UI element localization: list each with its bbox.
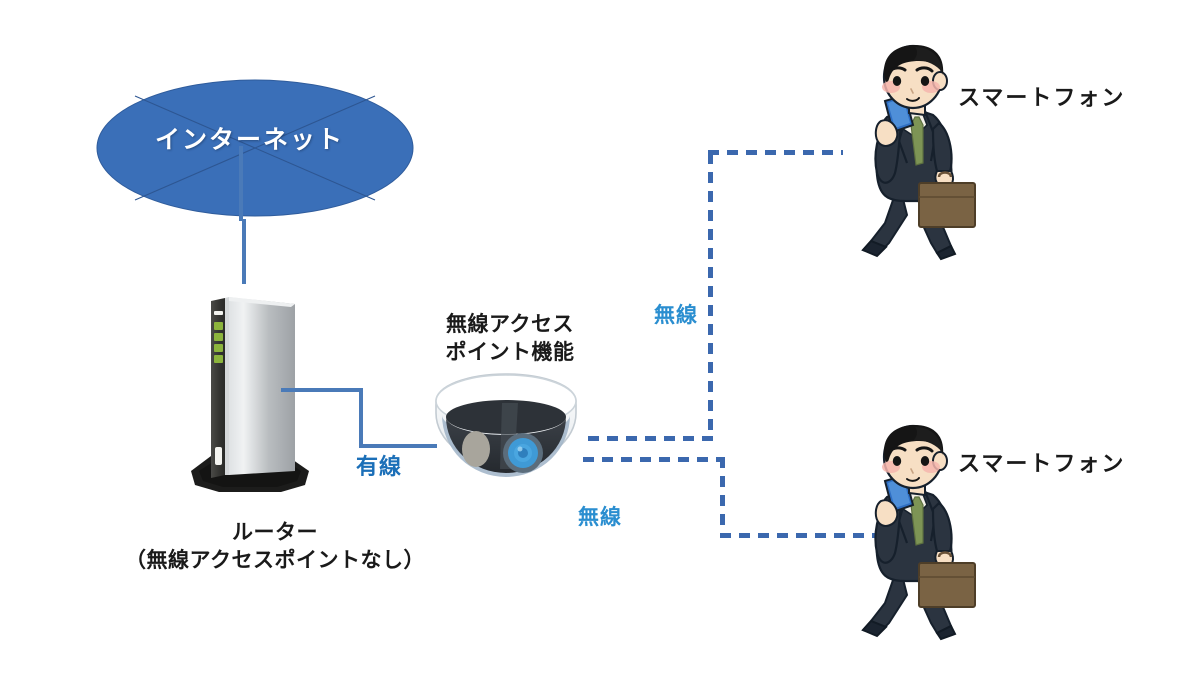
connector-camera-phonetop-h2: [708, 150, 843, 155]
smartphone-top-label: スマートフォン: [958, 84, 1125, 112]
connector-router-camera-v: [359, 388, 363, 448]
wireless-label-top: 無線: [654, 303, 698, 330]
smartphone-top-node: [855, 45, 985, 260]
dome-camera-icon: [428, 373, 584, 505]
connector-router-camera-h1: [281, 388, 363, 392]
wireless-label-bottom: 無線: [578, 505, 622, 532]
diagram-canvas: インターネット: [0, 0, 1200, 675]
connector-router-camera-h2: [359, 444, 437, 448]
connector-internet-router-lower: [242, 219, 246, 284]
connector-camera-phonebottom-h1: [583, 457, 725, 462]
businessman-with-phone-icon: [855, 45, 985, 260]
router-node: [185, 295, 315, 495]
camera-label-line1: 無線アクセス: [430, 312, 590, 339]
connector-camera-phonebottom-v: [720, 457, 725, 537]
router-label-line2: （無線アクセスポイントなし）: [105, 548, 445, 575]
connector-camera-phonetop-h1: [588, 436, 713, 441]
connector-camera-phonebottom-h2: [720, 533, 875, 538]
smartphone-bottom-label: スマートフォン: [958, 450, 1125, 478]
wired-label: 有線: [356, 453, 402, 481]
camera-node: [428, 373, 584, 505]
internet-label: インターネット: [155, 124, 344, 156]
router-icon: [185, 295, 315, 495]
connector-camera-phonetop-v: [708, 153, 713, 439]
router-label-line1: ルーター: [125, 520, 425, 547]
camera-label-line2: ポイント機能: [430, 340, 590, 367]
connector-internet-router-upper: [239, 146, 243, 221]
